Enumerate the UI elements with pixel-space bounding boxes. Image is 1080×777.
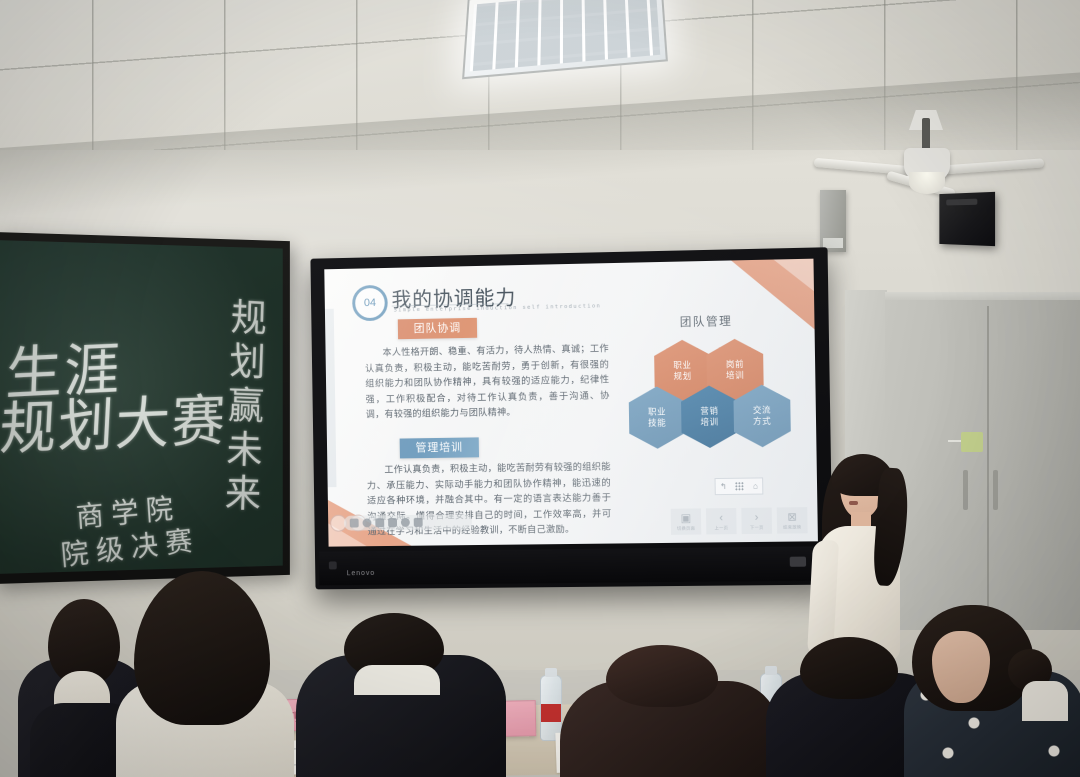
audience-person-6	[904, 601, 1080, 777]
presenter-toolbar[interactable]	[344, 514, 472, 530]
board-vertical-text: 规划赢未来	[212, 296, 272, 518]
board-sub-line-1: 商学院	[74, 486, 181, 536]
presenter-mouth	[849, 501, 858, 505]
diagram-title: 团队管理	[650, 312, 761, 330]
hexagon-label-line1: 职业	[648, 406, 666, 417]
bottle-label	[541, 704, 561, 722]
next-page-label: 下一页	[750, 524, 764, 530]
undo-icon[interactable]: ↰	[720, 482, 727, 491]
hexagon-label-line2: 方式	[753, 416, 771, 427]
audience-head	[606, 645, 718, 707]
switch-page-icon: ▣	[681, 512, 692, 525]
audience-hood	[354, 665, 440, 695]
switch-page-label: 切换页面	[677, 526, 695, 532]
slide-section-number: 04	[352, 285, 388, 321]
wall-speaker-grey	[820, 190, 846, 252]
cabinet-door-seam	[987, 306, 989, 630]
hexagon-label-line1: 交流	[753, 405, 771, 416]
pen-icon[interactable]	[350, 519, 359, 528]
slideshow-controls[interactable]: ▣ 切换页面 ‹ 上一页 › 下一页 ⊠ 结束放映	[671, 507, 808, 535]
cabinet-handle-left[interactable]	[963, 470, 968, 510]
next-page-button[interactable]: › 下一页	[741, 508, 772, 535]
note-icon[interactable]	[388, 518, 397, 527]
display-bottom-bezel: Lenovo	[319, 546, 829, 585]
classroom-scene: 生涯 规划大赛 规划赢未来 商学院 院级决赛 04 我的协调能力 Simple …	[0, 0, 1080, 777]
switch-page-button[interactable]: ▣ 切换页面	[671, 508, 702, 534]
grid-icon[interactable]	[735, 482, 744, 491]
laser-icon[interactable]	[363, 518, 372, 527]
slide-paragraph-team-coordination: 本人性格开朗、稳重、有活力，待人热情、真诚；工作认真负责，积极主动，能吃苦耐劳，…	[365, 341, 610, 423]
cabinet-sticker	[961, 432, 983, 452]
fan-light	[909, 172, 945, 194]
cabinet-handle-right[interactable]	[993, 470, 998, 510]
water-bottle-center	[540, 675, 562, 741]
board-main-line-1: 生涯	[4, 323, 122, 412]
audience-head	[800, 637, 898, 699]
board-sub-line-2: 院级决赛	[59, 518, 201, 574]
home-icon[interactable]: ⌂	[753, 482, 758, 491]
hexagon-label-line2: 培训	[700, 417, 718, 428]
bottle-cap	[545, 668, 557, 677]
ir-sensor-icon	[329, 561, 337, 569]
display-brand-logo: Lenovo	[347, 570, 376, 577]
audience-person-4	[560, 647, 780, 777]
next-page-icon: ›	[755, 511, 759, 523]
hexagon-diagram: 职业 规划 岗前 培训 职业 技能 营销 培训 交流 方式	[623, 338, 797, 467]
screen-icon[interactable]	[375, 518, 384, 527]
slide-chip-management-training: 管理培训	[400, 437, 479, 458]
hexagon-label-line1: 营销	[700, 406, 718, 417]
previous-page-label: 上一页	[715, 525, 729, 531]
audience-person-3	[296, 617, 506, 777]
fan-blade	[940, 158, 1044, 174]
hexagon-label-line2: 规划	[674, 371, 692, 382]
slide-chip-team-coordination: 团队协调	[398, 318, 477, 339]
blackboard: 生涯 规划大赛 规划赢未来 商学院 院级决赛	[0, 240, 283, 574]
smart-display[interactable]: 04 我的协调能力 Simple enterprise induction se…	[310, 247, 832, 589]
more-icon[interactable]	[401, 518, 410, 527]
hexagon-label-line2: 培训	[726, 370, 744, 381]
fan-rod	[922, 118, 930, 152]
slide-left-edge-accent	[325, 309, 337, 487]
previous-page-button[interactable]: ‹ 上一页	[706, 508, 737, 535]
audience-person-2	[108, 572, 298, 777]
collapse-icon[interactable]	[414, 518, 423, 527]
previous-page-icon: ‹	[719, 512, 723, 524]
audience-head	[134, 571, 270, 725]
blackboard-frame: 生涯 规划大赛 规划赢未来 商学院 院级决赛	[0, 232, 290, 584]
hexagon-label-line2: 技能	[648, 417, 666, 428]
hexagon-label-line1: 岗前	[726, 359, 744, 370]
slide-mini-toolbar[interactable]: ↰ ⌂	[715, 477, 764, 495]
audience-collar	[1022, 681, 1068, 721]
presentation-slide[interactable]: 04 我的协调能力 Simple enterprise induction se…	[324, 259, 818, 547]
wall-speaker-black	[939, 192, 995, 246]
hexagon-label-line1: 职业	[673, 360, 691, 371]
board-main-line-2: 规划大赛	[0, 375, 229, 466]
